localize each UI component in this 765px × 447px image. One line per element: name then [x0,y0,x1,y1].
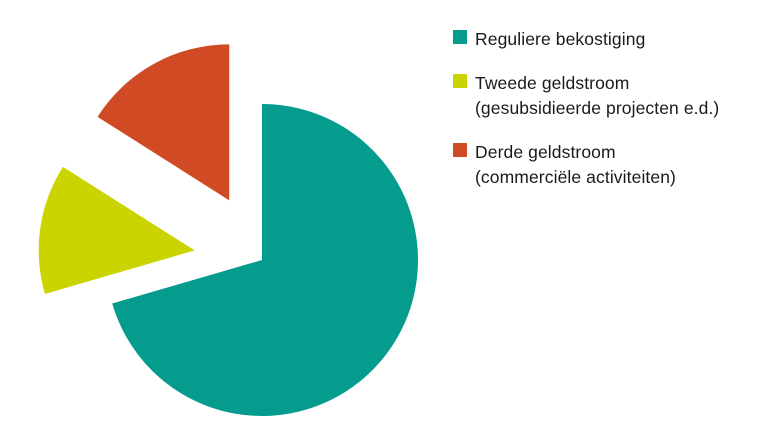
pie-slice-tweede-geldstroom[interactable] [39,167,195,294]
legend-label-line2: (commerciële activiteiten) [475,165,676,190]
pie-chart-figure: Reguliere bekostiging Tweede geldstroom … [0,0,765,447]
legend-item-tweede-geldstroom[interactable]: Tweede geldstroom (gesubsidieerde projec… [453,71,753,121]
legend-label-line1: Tweede geldstroom [475,73,629,93]
legend-label-derde-geldstroom: Derde geldstroom (commerciële activiteit… [475,140,676,190]
legend-label-reguliere-bekostiging: Reguliere bekostiging [475,27,645,52]
chart-legend: Reguliere bekostiging Tweede geldstroom … [453,27,753,209]
pie-plot-area [0,0,450,447]
legend-swatch-tweede-geldstroom [453,74,467,88]
legend-label-line1: Derde geldstroom [475,142,616,162]
legend-label-line2: (gesubsidieerde projecten e.d.) [475,96,719,121]
legend-item-derde-geldstroom[interactable]: Derde geldstroom (commerciële activiteit… [453,140,753,190]
legend-item-reguliere-bekostiging[interactable]: Reguliere bekostiging [453,27,753,52]
pie-slice-derde-geldstroom[interactable] [98,44,230,200]
legend-swatch-reguliere-bekostiging [453,30,467,44]
pie-svg [0,0,450,447]
legend-label-line1: Reguliere bekostiging [475,29,645,49]
legend-swatch-derde-geldstroom [453,143,467,157]
legend-label-tweede-geldstroom: Tweede geldstroom (gesubsidieerde projec… [475,71,719,121]
